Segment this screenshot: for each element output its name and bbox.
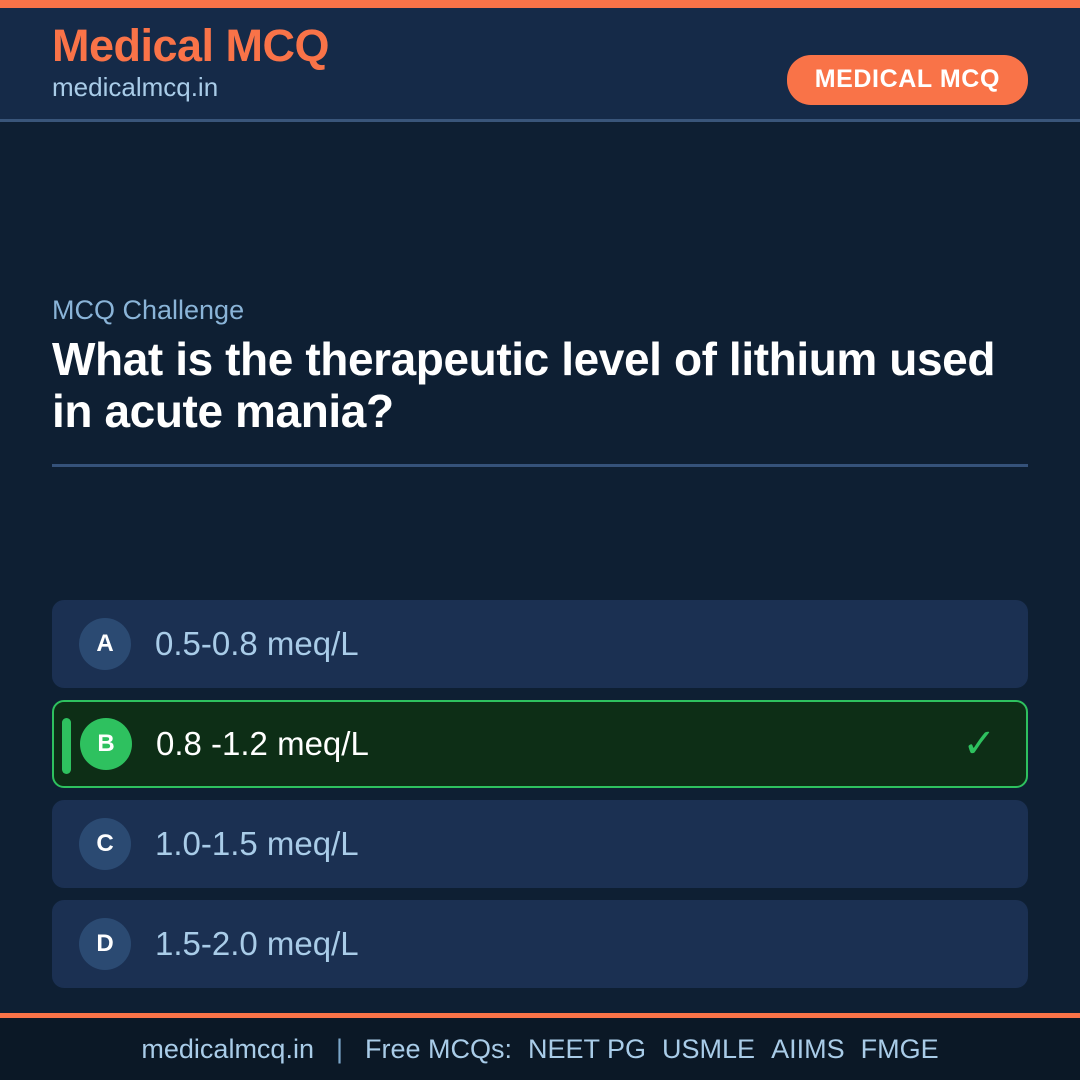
footer-exam-aiims[interactable]: AIIMS (771, 1036, 845, 1063)
option-letter-badge: D (79, 918, 131, 970)
main-content: MCQ Challenge What is the therapeutic le… (0, 122, 1080, 1013)
option-text: 0.5-0.8 meq/L (155, 626, 359, 662)
check-icon: ✓ (962, 724, 996, 764)
footer-exams: NEET PG USMLE AIIMS FMGE (528, 1036, 939, 1063)
question-title: What is the therapeutic level of lithium… (52, 334, 1028, 438)
footer-exams-label: Free MCQs: (365, 1036, 512, 1063)
option-text: 0.8 -1.2 meq/L (156, 726, 369, 762)
option-letter-badge: C (79, 818, 131, 870)
option-text: 1.0-1.5 meq/L (155, 826, 359, 862)
option-letter-badge: A (79, 618, 131, 670)
header-badge: MEDICAL MCQ (787, 55, 1028, 105)
correct-accent-bar (62, 718, 71, 774)
option-c[interactable]: C 1.0-1.5 meq/L (52, 800, 1028, 888)
brand-title: Medical MCQ (52, 23, 329, 69)
options-list: A 0.5-0.8 meq/L B 0.8 -1.2 meq/L ✓ C 1.0… (52, 600, 1028, 988)
option-letter-badge: B (80, 718, 132, 770)
question-eyebrow: MCQ Challenge (52, 294, 1028, 326)
footer-site[interactable]: medicalmcq.in (141, 1036, 314, 1063)
option-a[interactable]: A 0.5-0.8 meq/L (52, 600, 1028, 688)
footer-exam-fmge[interactable]: FMGE (861, 1036, 939, 1063)
option-d[interactable]: D 1.5-2.0 meq/L (52, 900, 1028, 988)
page-header: Medical MCQ medicalmcq.in MEDICAL MCQ (0, 8, 1080, 122)
question-block: MCQ Challenge What is the therapeutic le… (52, 294, 1028, 467)
brand: Medical MCQ medicalmcq.in (52, 23, 329, 104)
page-footer: medicalmcq.in | Free MCQs: NEET PG USMLE… (0, 1018, 1080, 1080)
option-text: 1.5-2.0 meq/L (155, 926, 359, 962)
footer-separator: | (330, 1034, 349, 1065)
option-b[interactable]: B 0.8 -1.2 meq/L ✓ (52, 700, 1028, 788)
top-accent-bar (0, 0, 1080, 8)
footer-exam-neet-pg[interactable]: NEET PG (528, 1036, 646, 1063)
footer-exam-usmle[interactable]: USMLE (662, 1036, 755, 1063)
mcq-card: Medical MCQ medicalmcq.in MEDICAL MCQ MC… (0, 0, 1080, 1080)
question-divider (52, 464, 1028, 467)
brand-subtitle: medicalmcq.in (52, 71, 329, 104)
